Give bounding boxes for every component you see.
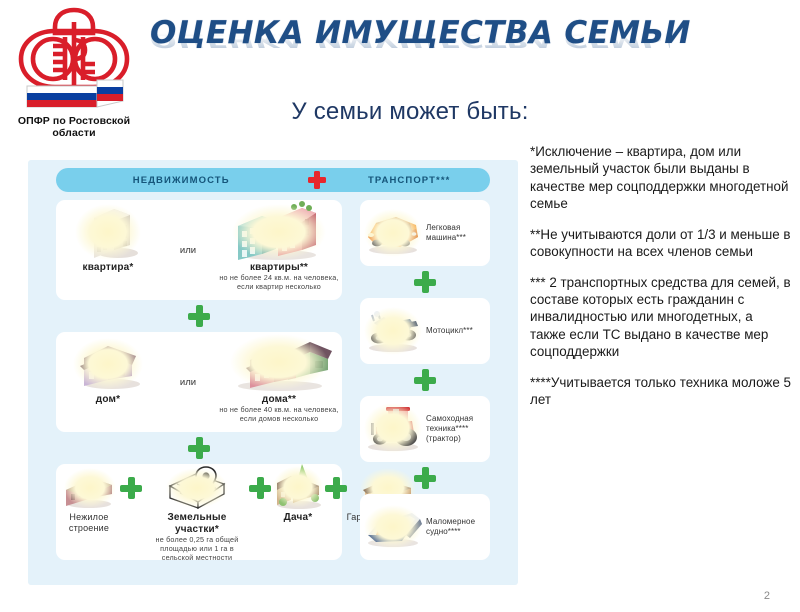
infographic-header-bar: НЕДВИЖИМОСТЬ ТРАНСПОРТ*** [56, 168, 490, 192]
transport-column-heading: ТРАНСПОРТ*** [328, 175, 490, 186]
realty-slot-single-house: дом* [56, 332, 160, 432]
plus-icon [248, 476, 272, 500]
realty-card-apartments: квартира* или [56, 200, 342, 300]
plus-icon [187, 436, 211, 460]
pfr-logo-icon [13, 6, 135, 114]
transport-label-boat: Маломерное судно**** [426, 517, 490, 537]
plus-icon [413, 270, 437, 294]
infographic-panel: НЕДВИЖИМОСТЬ ТРАНСПОРТ*** [28, 160, 518, 585]
transport-card-boat: Маломерное судно**** [360, 494, 490, 560]
transport-card-motorcycle: Мотоцикл*** [360, 298, 490, 364]
realty-label-land: Земельные участки* [144, 512, 250, 536]
realty-note-apartments: но не более 24 кв.м. на человека, если к… [216, 274, 342, 291]
organization-logo-block: ОПФР по Ростовской области [4, 6, 144, 140]
realty-label-dacha: Дача* [271, 512, 325, 524]
footnote-1: *Исключение – квартира, дом или земельны… [530, 143, 792, 213]
connector-label: или [180, 377, 196, 388]
realty-card-other-objects: Нежилое строение [56, 464, 342, 560]
realty-column-heading: НЕДВИЖИМОСТЬ [56, 175, 306, 186]
realty-label-apartment: квартира* [56, 262, 160, 274]
plus-icon [187, 304, 211, 328]
realty-slot-land: Земельные участки* не более 0,25 га обще… [144, 464, 250, 560]
page-subtitle: У семьи может быть: [150, 98, 670, 126]
realty-slot-multi-houses: дома** но не более 40 кв.м. на человека,… [216, 332, 342, 432]
footnote-2: **Не учитываются доли от 1/3 и меньше в … [530, 226, 792, 261]
title-block: ОЦЕНКА ИМУЩЕСТВА СЕМЬИ ОЦЕНКА ИМУЩЕСТВА … [150, 18, 670, 80]
plus-icon [306, 169, 328, 191]
realty-connector-1: или [160, 200, 216, 300]
realty-slot-single-apartment: квартира* [56, 200, 160, 300]
connector-label: или [180, 245, 196, 256]
transport-card-car: Легковая машина*** [360, 200, 490, 266]
realty-connector-2: или [160, 332, 216, 432]
realty-slot-nonresidential: Нежилое строение [58, 464, 120, 560]
realty-label-nonresidential: Нежилое строение [58, 512, 120, 534]
realty-note-land: не более 0,25 га общей площадью или 1 га… [144, 536, 250, 562]
realty-note-houses: но не более 40 кв.м. на человека, если д… [216, 406, 342, 423]
realty-label-house: дом* [56, 394, 160, 406]
plus-icon [119, 476, 143, 500]
transport-label-motorcycle: Мотоцикл*** [426, 326, 473, 336]
transport-label-car: Легковая машина*** [426, 223, 490, 243]
footnote-3: *** 2 транспортных средства для семей, в… [530, 274, 792, 361]
plus-icon [413, 368, 437, 392]
realty-card-houses: дом* или [56, 332, 342, 432]
logo-caption: ОПФР по Ростовской области [4, 115, 144, 140]
page-title-reflection: ОЦЕНКА ИМУЩЕСТВА СЕМЬИ [150, 30, 670, 49]
footnotes-list: *Исключение – квартира, дом или земельны… [530, 143, 792, 421]
transport-column: Легковая машина*** [360, 200, 490, 560]
plus-icon [413, 466, 437, 490]
transport-card-tractor: Самоходная техника**** (трактор) [360, 396, 490, 462]
realty-column: квартира* или [56, 200, 342, 560]
realty-slot-dacha: Дача* [271, 464, 325, 560]
plus-icon [324, 476, 348, 500]
realty-slot-multi-apartments: квартиры** но не более 24 кв.м. на челов… [216, 200, 342, 300]
footnote-4: ****Учитывается только техника моложе 5 … [530, 374, 792, 409]
transport-label-tractor: Самоходная техника**** (трактор) [426, 414, 490, 444]
page-number: 2 [764, 590, 770, 602]
